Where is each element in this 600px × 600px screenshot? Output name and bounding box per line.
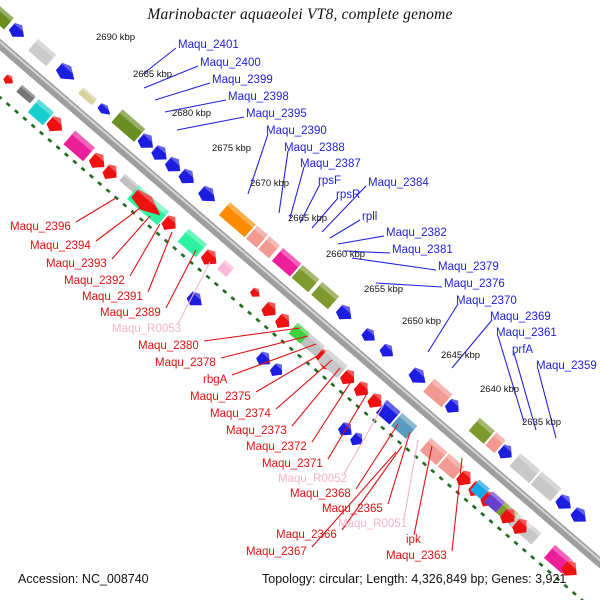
ruler-dot bbox=[364, 412, 367, 415]
gene-label-forward[interactable]: Maqu_2384 bbox=[368, 178, 429, 190]
ruler-dot bbox=[98, 182, 101, 185]
gene-label-forward[interactable]: Maqu_2361 bbox=[496, 328, 557, 340]
gene-label-forward[interactable]: Maqu_2359 bbox=[536, 361, 597, 373]
gene-label-reverse[interactable]: Maqu_2374 bbox=[210, 409, 271, 421]
label-leader-line bbox=[112, 216, 150, 259]
gene-label-forward[interactable]: Maqu_2379 bbox=[438, 262, 499, 274]
ruler-dot bbox=[73, 161, 76, 164]
scale-tick-label: 2690 kbp bbox=[96, 33, 135, 43]
scale-tick-label: 2675 kbp bbox=[212, 144, 251, 154]
ruler-dot bbox=[181, 254, 184, 257]
gene-label-forward[interactable]: Maqu_2381 bbox=[392, 245, 453, 257]
gene-label-forward[interactable]: Maqu_2369 bbox=[490, 312, 551, 324]
ruler-dot bbox=[298, 355, 301, 358]
ruler-dot bbox=[323, 376, 326, 379]
ruler-dot bbox=[215, 283, 218, 286]
gene-label-reverse[interactable]: Maqu_2366 bbox=[276, 530, 337, 542]
label-leader-line bbox=[414, 446, 432, 535]
ruler-dot bbox=[439, 477, 442, 480]
ruler-dot bbox=[431, 470, 434, 473]
gene-label-reverse[interactable]: Maqu_2394 bbox=[30, 241, 91, 253]
gene-label-forward[interactable]: Maqu_2395 bbox=[246, 109, 307, 121]
gene-label-forward[interactable]: prfA bbox=[512, 345, 533, 357]
ruler-dot bbox=[65, 153, 68, 156]
gene-label-reverse[interactable]: Maqu_2368 bbox=[290, 489, 351, 501]
ruler-dot bbox=[406, 448, 409, 451]
gene-label-rna[interactable]: Maqu_R0053 bbox=[112, 324, 181, 336]
footer-bar: Accession: NC_008740 Topology: circular;… bbox=[0, 572, 600, 596]
ruler-dot bbox=[248, 312, 251, 315]
ruler-dot bbox=[523, 549, 526, 552]
gene-label-forward[interactable]: Maqu_2399 bbox=[212, 75, 273, 87]
scale-tick-label: 2655 kbp bbox=[364, 285, 403, 295]
label-leader-line bbox=[155, 83, 210, 100]
ruler-dot bbox=[123, 204, 126, 207]
gene-label-reverse[interactable]: ipk bbox=[406, 535, 421, 547]
ruler-dot bbox=[448, 484, 451, 487]
ruler-dot bbox=[539, 563, 542, 566]
ruler-dot bbox=[40, 132, 43, 135]
gene-label-reverse[interactable]: Maqu_2396 bbox=[10, 222, 71, 234]
ruler-dot bbox=[514, 542, 517, 545]
scale-tick-label: 2685 kbp bbox=[133, 70, 172, 80]
ruler-dot bbox=[0, 96, 2, 99]
label-leader-line bbox=[428, 304, 458, 352]
label-leader-line bbox=[404, 440, 418, 519]
gene-label-forward[interactable]: Maqu_2370 bbox=[456, 296, 517, 308]
gene-label-reverse[interactable]: Maqu_2380 bbox=[138, 341, 199, 353]
ruler-dot bbox=[206, 276, 209, 279]
scale-tick-label: 2660 kbp bbox=[326, 250, 365, 260]
gene-label-forward[interactable]: Maqu_2401 bbox=[178, 40, 239, 52]
ruler-dot bbox=[223, 290, 226, 293]
gene-label-reverse[interactable]: Maqu_2372 bbox=[246, 442, 307, 454]
ruler-dot bbox=[15, 110, 18, 113]
ruler-dot bbox=[265, 326, 268, 329]
ruler-dot bbox=[506, 534, 509, 537]
label-leader-line bbox=[290, 167, 304, 218]
scale-tick-label: 2645 kbp bbox=[441, 351, 480, 361]
gene-label-forward[interactable]: Maqu_2400 bbox=[200, 58, 261, 70]
label-leader-line bbox=[96, 208, 140, 241]
gene-label-forward[interactable]: Maqu_2387 bbox=[300, 159, 361, 171]
ruler-dot bbox=[148, 225, 151, 228]
ruler-dot bbox=[398, 441, 401, 444]
gene-label-reverse[interactable]: Maqu_2391 bbox=[82, 292, 143, 304]
label-leader-line bbox=[148, 232, 172, 292]
ruler-dot bbox=[473, 506, 476, 509]
gene-label-reverse[interactable]: Maqu_2389 bbox=[100, 308, 161, 320]
accession-text: Accession: NC_008740 bbox=[18, 572, 149, 586]
ruler-dot bbox=[340, 391, 343, 394]
gene-label-forward[interactable]: Maqu_2376 bbox=[444, 279, 505, 291]
gene-label-reverse[interactable]: Maqu_2393 bbox=[46, 259, 107, 271]
ruler-dot bbox=[423, 463, 426, 466]
gene-label-forward[interactable]: Maqu_2390 bbox=[266, 126, 327, 138]
gene-label-forward[interactable]: rpll bbox=[362, 212, 377, 224]
ruler-dot bbox=[489, 520, 492, 523]
gene-label-reverse[interactable]: Maqu_2363 bbox=[386, 551, 447, 563]
scale-tick-label: 2665 kbp bbox=[288, 214, 327, 224]
ruler-dot bbox=[81, 168, 84, 171]
ruler-dot bbox=[31, 125, 34, 128]
scale-tick-label: 2670 kbp bbox=[250, 179, 289, 189]
label-leader-line bbox=[328, 392, 368, 459]
label-leader-line bbox=[76, 198, 116, 222]
ruler-dot bbox=[315, 369, 318, 372]
gene-label-reverse[interactable]: Maqu_2375 bbox=[190, 392, 251, 404]
ruler-dot bbox=[140, 218, 143, 221]
scale-tick-label: 2635 kbp bbox=[522, 418, 561, 428]
gene-label-rna[interactable]: Maqu_R0051 bbox=[338, 519, 407, 531]
ruler-dot bbox=[348, 398, 351, 401]
label-leader-line bbox=[338, 236, 384, 244]
gene-label-forward[interactable]: Maqu_2388 bbox=[284, 143, 345, 155]
ruler-dot bbox=[498, 527, 501, 530]
gene-feature[interactable] bbox=[78, 88, 97, 106]
scale-tick-label: 2650 kbp bbox=[402, 317, 441, 327]
label-leader-line bbox=[330, 220, 360, 238]
ruler-dot bbox=[464, 498, 467, 501]
ruler-dot bbox=[256, 319, 259, 322]
gene-label-reverse[interactable]: Maqu_2373 bbox=[226, 426, 287, 438]
gene-label-reverse[interactable]: rbgA bbox=[203, 375, 227, 387]
ruler-dot bbox=[90, 175, 93, 178]
gene-label-forward[interactable]: rpsF bbox=[318, 176, 341, 188]
scale-tick-label: 2640 kbp bbox=[480, 385, 519, 395]
label-leader-line bbox=[130, 224, 160, 276]
ruler-dot bbox=[231, 297, 234, 300]
gene-label-rna[interactable]: Maqu_R0052 bbox=[278, 474, 347, 486]
ruler-dot bbox=[240, 304, 243, 307]
ruler-dot bbox=[198, 268, 201, 271]
ruler-dot bbox=[290, 347, 293, 350]
gene-feature-highlight bbox=[0, 60, 4, 73]
gene-label-forward[interactable]: Maqu_2398 bbox=[228, 92, 289, 104]
page-title: Marinobacter aquaeolei VT8, complete gen… bbox=[0, 6, 600, 24]
gene-label-reverse[interactable]: Maqu_2367 bbox=[246, 547, 307, 559]
gene-label-forward[interactable]: Maqu_2382 bbox=[386, 228, 447, 240]
ruler-dot bbox=[331, 383, 334, 386]
ruler-dot bbox=[481, 513, 484, 516]
gene-label-reverse[interactable]: Maqu_2365 bbox=[322, 504, 383, 516]
ruler-dot bbox=[23, 117, 26, 120]
ruler-dot bbox=[56, 146, 59, 149]
ruler-dot bbox=[106, 189, 109, 192]
gene-label-reverse[interactable]: Maqu_2378 bbox=[155, 358, 216, 370]
scale-tick-label: 2680 kbp bbox=[172, 109, 211, 119]
ruler-dot bbox=[48, 139, 51, 142]
ruler-dot bbox=[156, 232, 159, 235]
label-leader-line bbox=[292, 368, 340, 426]
label-leader-line bbox=[178, 262, 210, 324]
ruler-dot bbox=[531, 556, 534, 559]
genome-map-canvas: 2690 kbp2685 kbp2680 kbp2675 kbp2670 kbp… bbox=[0, 0, 600, 600]
label-leader-line bbox=[344, 404, 384, 474]
ruler-dot bbox=[173, 247, 176, 250]
topology-text: Topology: circular; Length: 4,326,849 bp… bbox=[262, 572, 566, 586]
ruler-dot bbox=[273, 333, 276, 336]
gene-label-reverse[interactable]: Maqu_2371 bbox=[262, 459, 323, 471]
ruler-dot bbox=[381, 427, 384, 430]
gene-label-reverse[interactable]: Maqu_2392 bbox=[64, 276, 125, 288]
ruler-dot bbox=[7, 103, 10, 106]
gene-label-forward[interactable]: rpsR bbox=[336, 190, 360, 202]
label-leader-line bbox=[204, 328, 300, 341]
